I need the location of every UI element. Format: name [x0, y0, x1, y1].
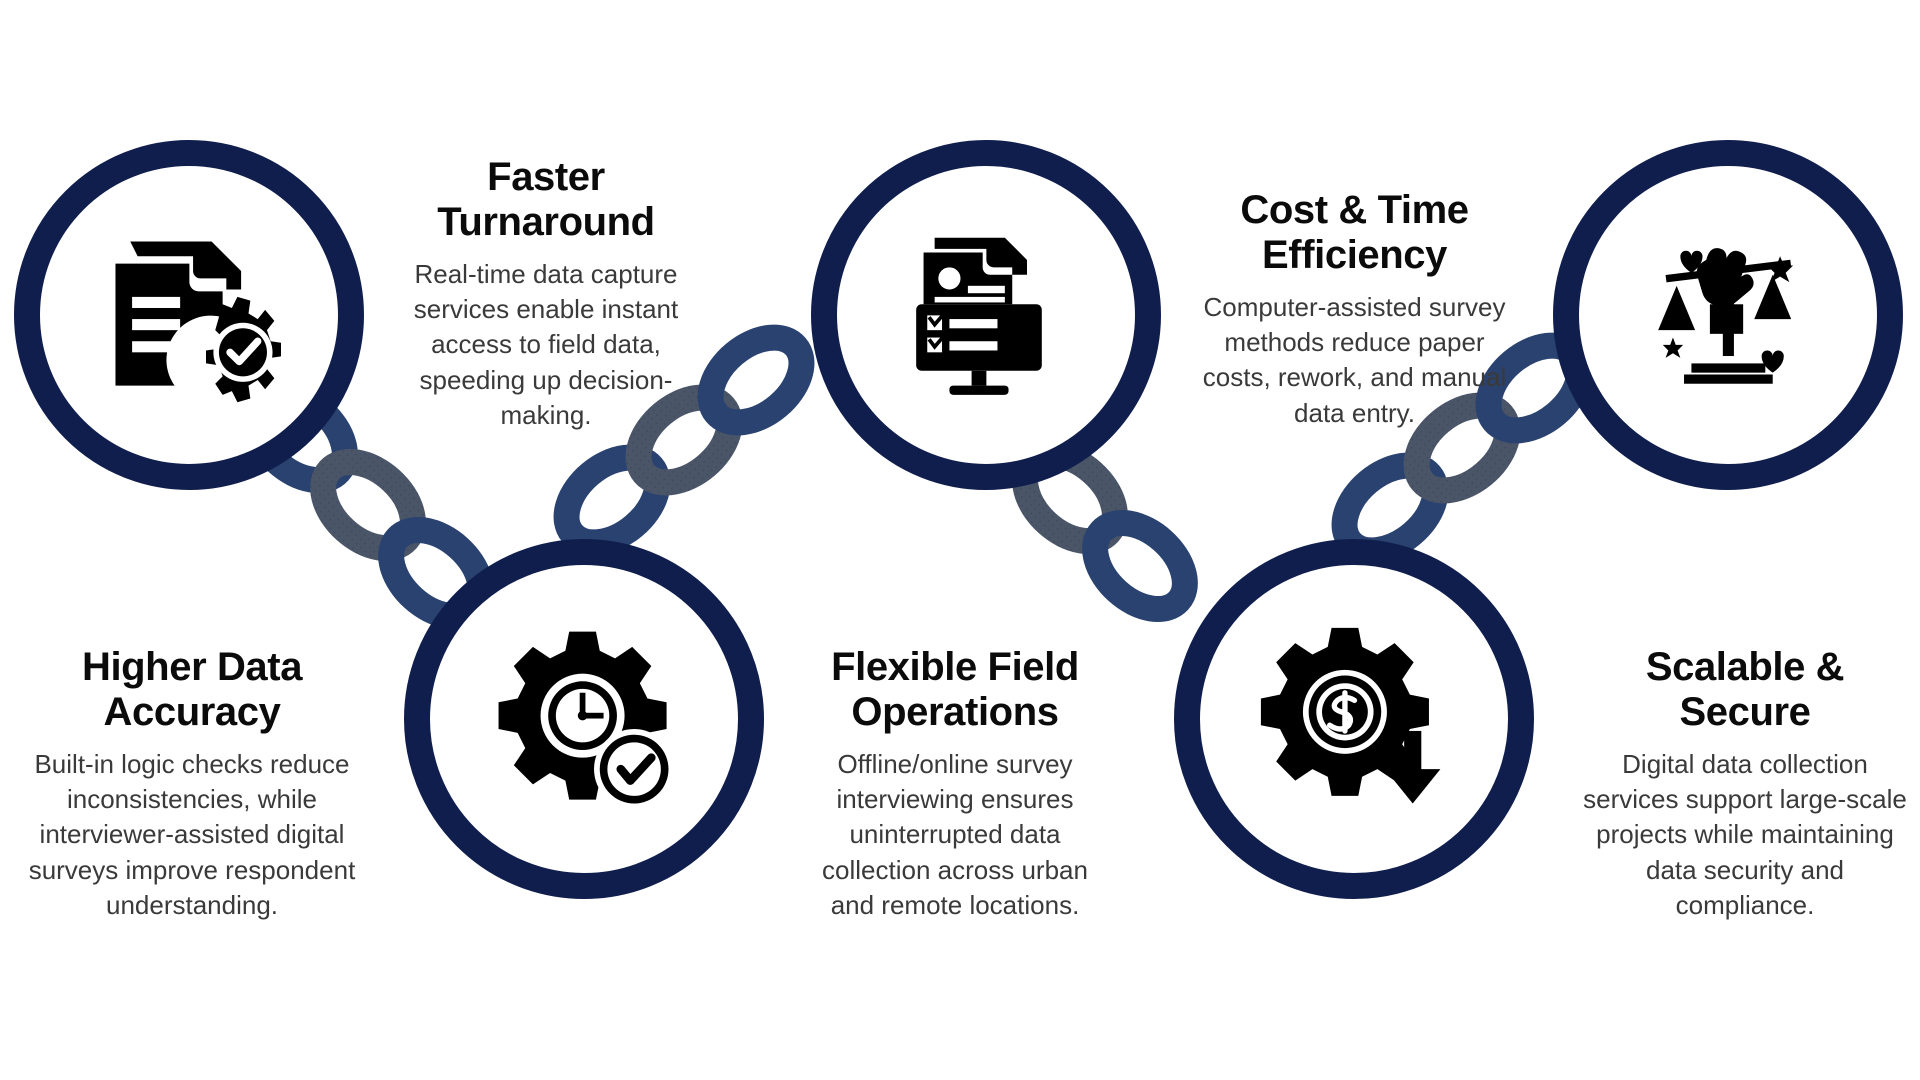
node-circle-faster-turnaround[interactable]	[404, 539, 764, 899]
node-circle-cost-time-efficiency[interactable]	[1174, 539, 1534, 899]
text-block-cost-time-efficiency: Cost & Time Efficiency Computer-assisted…	[1202, 188, 1507, 431]
benefit-body: Digital data collection services support…	[1580, 747, 1910, 924]
gear-clock-check-icon	[489, 624, 680, 815]
node-circle-flexible-field-operations[interactable]	[811, 140, 1161, 490]
text-block-scalable-secure: Scalable & Secure Digital data collectio…	[1580, 645, 1910, 923]
text-block-flexible-field-operations: Flexible Field Operations Offline/online…	[800, 645, 1110, 923]
benefit-body: Computer-assisted survey methods reduce …	[1202, 290, 1507, 431]
infographic-canvas: Faster Turnaround Real-time data capture…	[0, 0, 1920, 1080]
chain-link-2c	[694, 321, 817, 440]
benefit-title: Scalable & Secure	[1580, 645, 1910, 735]
node-circle-scalable-secure[interactable]	[1553, 140, 1903, 490]
document-gear-check-icon	[97, 223, 282, 408]
node-circle-higher-data-accuracy[interactable]	[14, 140, 364, 490]
benefit-body: Offline/online survey interviewing ensur…	[800, 747, 1110, 924]
benefit-title: Flexible Field Operations	[800, 645, 1110, 735]
text-block-higher-data-accuracy: Higher Data Accuracy Built-in logic chec…	[22, 645, 362, 923]
scales-justice-fist-icon	[1636, 223, 1821, 408]
benefit-title: Cost & Time Efficiency	[1202, 188, 1507, 278]
gear-dollar-arrow-icon	[1259, 624, 1450, 815]
benefit-title: Higher Data Accuracy	[22, 645, 362, 735]
text-block-faster-turnaround: Faster Turnaround Real-time data capture…	[396, 155, 696, 433]
chain-link-3c	[1079, 506, 1202, 626]
benefit-body: Real-time data capture services enable i…	[396, 257, 696, 434]
benefit-title: Faster Turnaround	[396, 155, 696, 245]
survey-form-monitor-icon	[894, 223, 1079, 408]
benefit-body: Built-in logic checks reduce inconsisten…	[22, 747, 362, 924]
chain-link-1b	[307, 445, 430, 565]
